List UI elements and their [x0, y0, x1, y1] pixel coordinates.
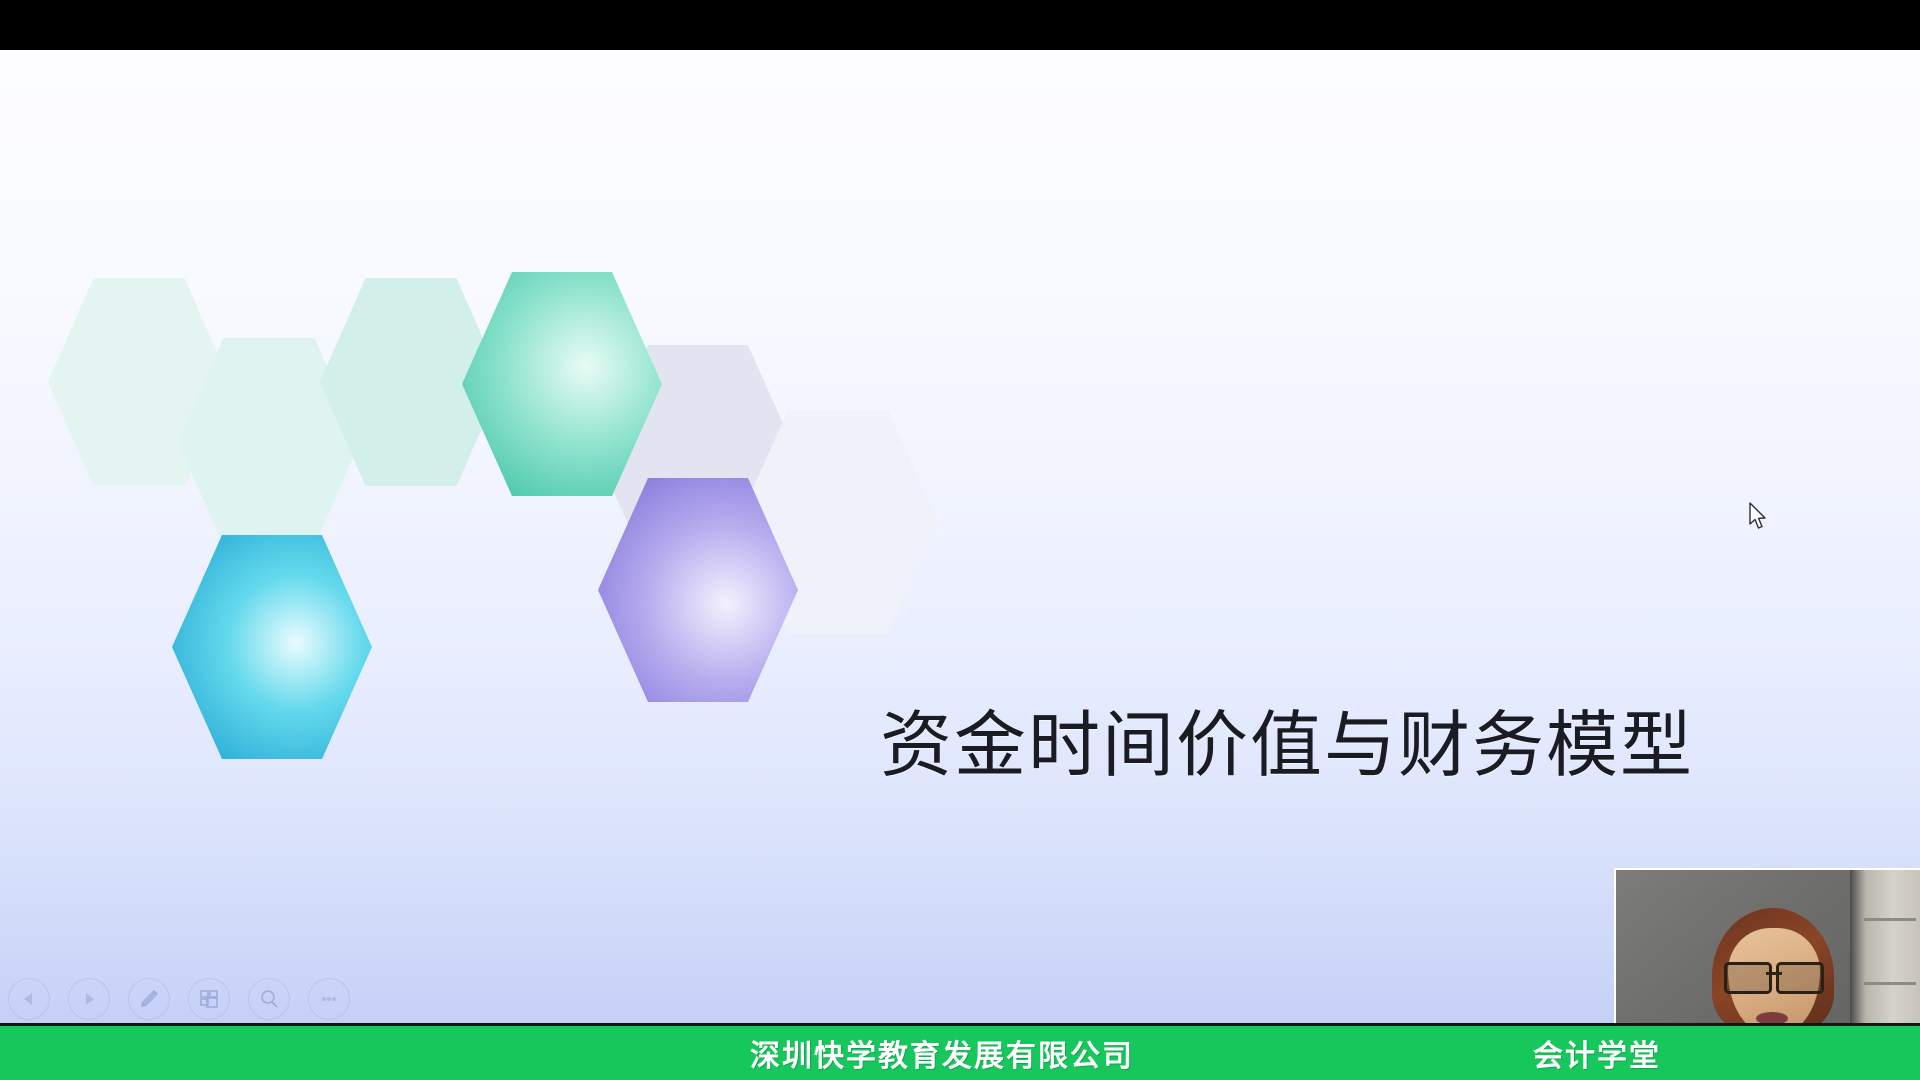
powerpoint-slide-stage[interactable]: 资金时间价值与财务模型 [0, 50, 1920, 1026]
banner-company-name: 深圳快学教育发展有限公司 [750, 1031, 1134, 1075]
ellipsis-icon [317, 987, 341, 1011]
presenter-control-bar[interactable] [8, 978, 350, 1020]
more-options-button[interactable] [308, 978, 350, 1020]
next-slide-button[interactable] [68, 978, 110, 1020]
triangle-left-icon [19, 989, 39, 1009]
top-letterbox-bar [0, 0, 1920, 50]
previous-slide-button[interactable] [8, 978, 50, 1020]
slide-title: 资金时间价值与财务模型 [880, 686, 1780, 791]
hex-cyan-accent [172, 535, 372, 759]
bottom-branding-banner: 深圳快学教育发展有限公司 会计学堂 [0, 1023, 1920, 1080]
slide-grid-button[interactable] [188, 978, 230, 1020]
pen-icon [137, 987, 161, 1011]
banner-brand-name: 会计学堂 [1533, 1031, 1661, 1075]
presenter-glasses [1724, 962, 1824, 988]
magnifier-icon [257, 987, 281, 1011]
webcam-pip-panel[interactable]: EXCEL8 [1614, 868, 1920, 1026]
webcam-shelf-background [1850, 870, 1920, 1026]
triangle-right-icon [79, 989, 99, 1009]
mouse-cursor [1748, 502, 1770, 532]
grid-slides-icon [197, 987, 221, 1011]
pen-tool-button[interactable] [128, 978, 170, 1020]
zoom-button[interactable] [248, 978, 290, 1020]
